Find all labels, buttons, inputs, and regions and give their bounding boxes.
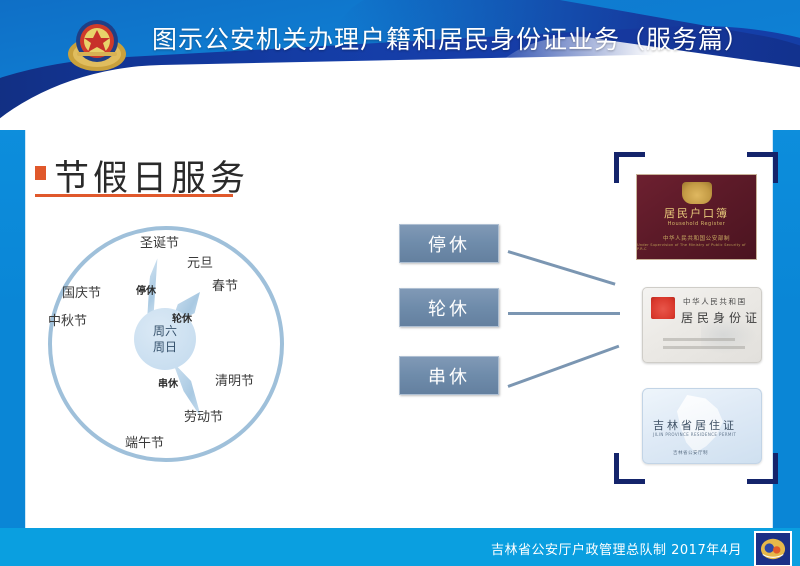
connector-rotate-to-docs <box>508 312 620 315</box>
section-bullet-icon <box>35 166 46 180</box>
inner-label-rotate-rest: 轮休 <box>172 310 192 325</box>
permit-issuer-cn: 吉林省公安厅制 <box>673 450 708 456</box>
idcard-country: 中华人民共和国 <box>683 296 747 307</box>
duty-box-swap-rest[interactable]: 串休 <box>399 356 499 395</box>
document-jilin-residence-permit[interactable]: 吉林省居住证 JILIN PROVINCE RESIDENCE PERMIT 吉… <box>642 388 762 464</box>
inner-label-stop-rest: 停休 <box>136 282 156 297</box>
idcard-validity-line <box>663 346 745 349</box>
header-title: 图示公安机关办理户籍和居民身份证业务（服务篇） <box>152 20 750 56</box>
national-emblem-icon <box>682 182 712 204</box>
permit-title-cn: 吉林省居住证 <box>653 417 737 433</box>
inner-label-swap-rest: 串休 <box>158 375 178 390</box>
idcard-issuing-line <box>663 338 735 341</box>
hukou-issuer-cn: 中华人民共和国公安部制 <box>663 234 730 242</box>
holiday-label-spring-fest: 春节 <box>212 275 238 294</box>
center-line-sunday: 周日 <box>153 339 177 355</box>
national-emblem-red-icon <box>651 297 675 319</box>
org-emblem-icon <box>754 531 792 566</box>
hukou-title-en: Household Register <box>668 221 726 227</box>
holiday-label-christmas: 圣诞节 <box>140 232 179 251</box>
police-badge-icon <box>66 14 128 74</box>
holiday-circle-diagram: 周六 周日 圣诞节 元旦 春节 清明节 劳动节 端午节 中秋节 国庆节 停休 轮… <box>40 220 310 470</box>
slide-footer: 吉林省公安厅户政管理总队制 2017年4月 <box>0 528 800 566</box>
idcard-title-cn: 居民身份证 <box>681 309 761 326</box>
duty-box-stop-rest[interactable]: 停休 <box>399 224 499 263</box>
hukou-title-cn: 居民户口簿 <box>664 208 729 220</box>
holiday-label-new-year: 元旦 <box>187 252 213 271</box>
slide-canvas: 图示公安机关办理户籍和居民身份证业务（服务篇） 节假日服务 周六 周日 圣诞节 … <box>0 0 800 566</box>
section-underline <box>35 194 233 197</box>
holiday-label-national-day: 国庆节 <box>62 282 101 301</box>
holiday-label-mid-autumn: 中秋节 <box>48 310 87 329</box>
permit-title-en: JILIN PROVINCE RESIDENCE PERMIT <box>653 432 736 437</box>
holiday-label-labour-day: 劳动节 <box>184 406 223 425</box>
footer-text: 吉林省公安厅户政管理总队制 2017年4月 <box>491 539 742 558</box>
document-frame: 居民户口簿 Household Register 中华人民共和国公安部制 Und… <box>614 152 778 484</box>
document-resident-id-card[interactable]: 中华人民共和国 居民身份证 <box>642 287 762 363</box>
corner-bracket-bottom-left <box>614 453 645 484</box>
document-household-register[interactable]: 居民户口簿 Household Register 中华人民共和国公安部制 Und… <box>636 174 757 260</box>
center-line-saturday: 周六 <box>153 323 177 339</box>
holiday-label-dragon-boat: 端午节 <box>125 432 164 451</box>
hukou-issuer-en: Under Supervision of The Ministry of Pub… <box>637 243 756 251</box>
duty-box-rotate-rest[interactable]: 轮休 <box>399 288 499 327</box>
holiday-label-qingming: 清明节 <box>215 370 254 389</box>
